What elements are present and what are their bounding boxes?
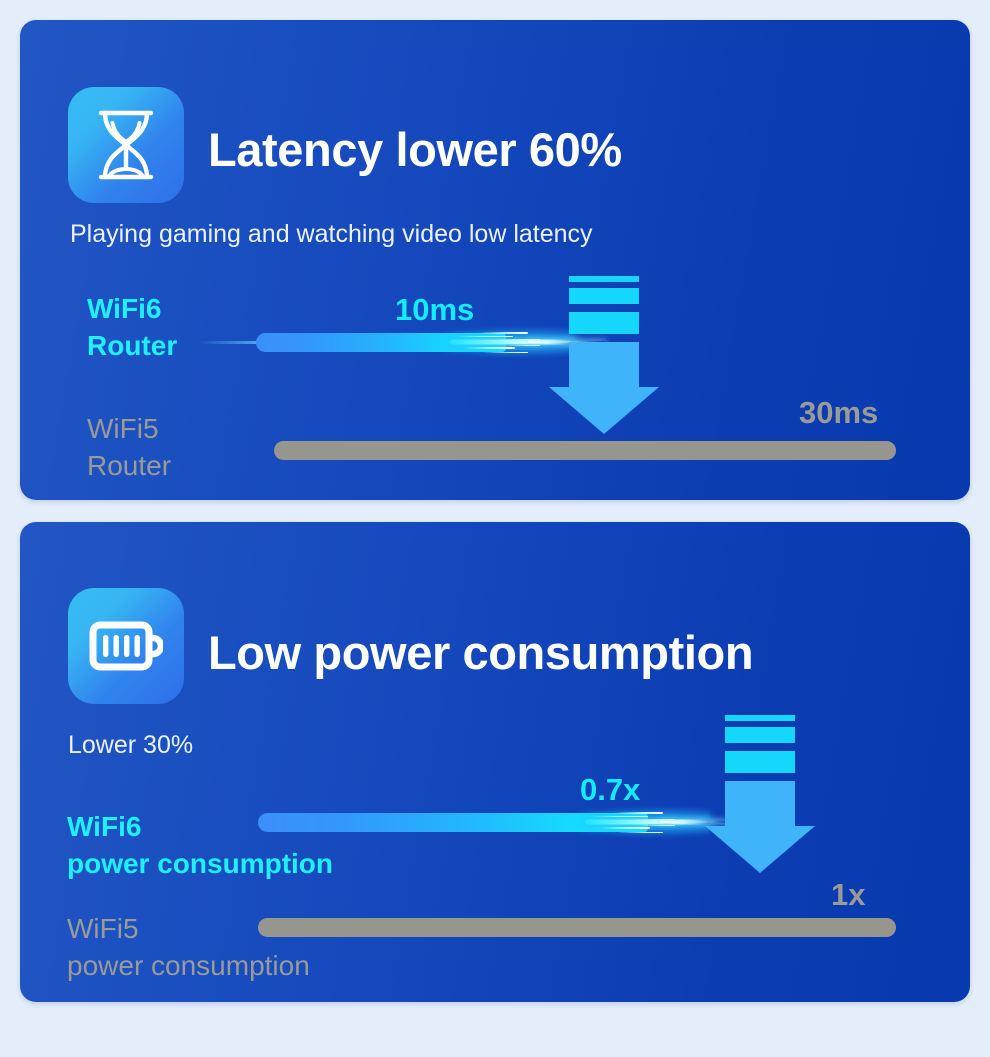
value-label-wifi6: 10ms (395, 292, 474, 328)
card-subtitle: Playing gaming and watching video low la… (70, 220, 593, 249)
value-label-wifi6: 0.7x (580, 772, 640, 808)
promo-page: Latency lower 60% Playing gaming and wat… (0, 0, 990, 1057)
row-label-wifi5: WiFi5 Router (87, 410, 171, 484)
feature-card-latency: Latency lower 60% Playing gaming and wat… (20, 20, 970, 500)
hourglass-icon (68, 87, 184, 203)
bar-wifi6 (256, 333, 506, 352)
down-arrow-icon (549, 276, 659, 428)
page-title: Low power consumption (208, 625, 753, 680)
value-label-wifi5: 1x (831, 877, 865, 913)
row-label-wifi6: WiFi6 Router (87, 290, 177, 364)
bar-wifi5 (274, 441, 896, 460)
bar-wifi6 (258, 813, 648, 832)
row-label-line1: WiFi6 (87, 290, 177, 327)
feature-card-power: Low power consumption Lower 30% WiFi6 po… (20, 522, 970, 1002)
row-label-line1: WiFi5 (87, 410, 171, 447)
row-label-line2: Router (87, 447, 171, 484)
card-subtitle: Lower 30% (68, 731, 193, 760)
battery-icon (68, 588, 184, 704)
row-label-line2: power consumption (67, 947, 310, 984)
page-title: Latency lower 60% (208, 122, 622, 177)
value-label-wifi5: 30ms (799, 395, 878, 431)
down-arrow-icon (705, 715, 815, 867)
bar-wifi5 (258, 918, 896, 937)
row-label-line2: power consumption (67, 845, 333, 882)
row-label-line2: Router (87, 327, 177, 364)
